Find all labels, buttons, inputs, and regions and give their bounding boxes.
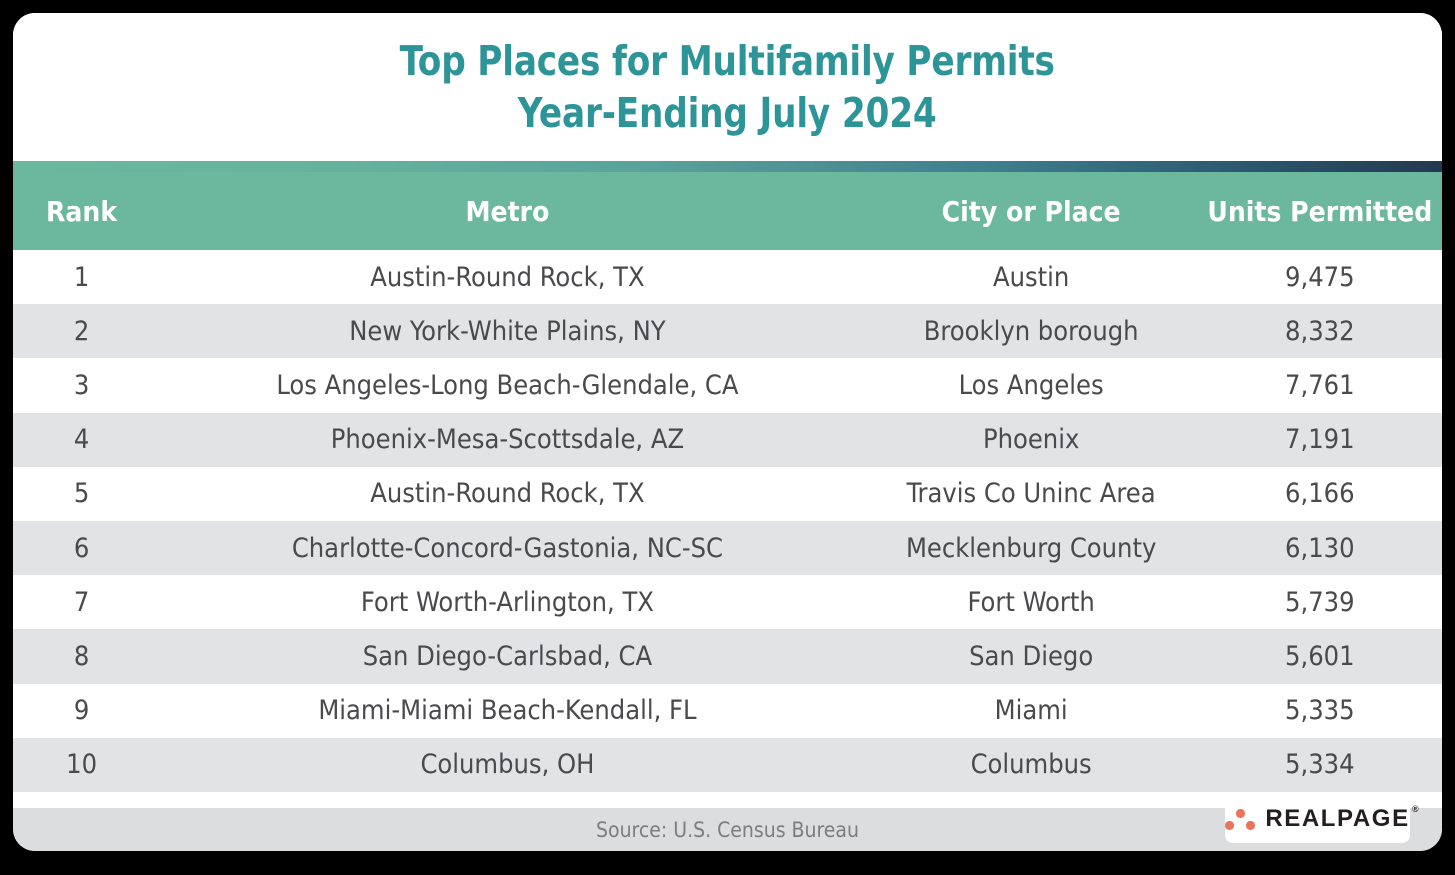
page-title-line-2: Year-Ending July 2024 — [518, 87, 937, 139]
registered-trademark-icon: ® — [1412, 805, 1419, 814]
report-card: Top Places for Multifamily Permits Year-… — [13, 13, 1442, 851]
table-row: 7 Fort Worth-Arlington, TX Fort Worth 5,… — [13, 575, 1442, 629]
table-body: 1 Austin-Round Rock, TX Austin 9,475 2 N… — [13, 250, 1442, 792]
cell-metro: New York-White Plains, NY — [150, 304, 865, 358]
cell-rank: 2 — [13, 304, 150, 358]
cell-city: Travis Co Uninc Area — [865, 467, 1198, 521]
permits-table: Rank Metro City or Place Units Permitted… — [13, 172, 1442, 792]
cell-metro: San Diego-Carlsbad, CA — [150, 629, 865, 683]
table-row: 5 Austin-Round Rock, TX Travis Co Uninc … — [13, 467, 1442, 521]
table-row: 9 Miami-Miami Beach-Kendall, FL Miami 5,… — [13, 684, 1442, 738]
cell-units: 6,166 — [1198, 467, 1442, 521]
column-header-rank[interactable]: Rank — [13, 172, 150, 250]
cell-metro: Charlotte-Concord-Gastonia, NC-SC — [150, 521, 865, 575]
page-title: Top Places for Multifamily Permits Year-… — [13, 13, 1442, 160]
table-row: 2 New York-White Plains, NY Brooklyn bor… — [13, 304, 1442, 358]
table-header: Rank Metro City or Place Units Permitted — [13, 172, 1442, 250]
realpage-logo[interactable]: REALPAGE ® — [1225, 795, 1410, 843]
realpage-wordmark: REALPAGE ® — [1265, 807, 1409, 831]
cell-city: Austin — [865, 250, 1198, 304]
cell-rank: 10 — [13, 738, 150, 792]
cell-city: Los Angeles — [865, 358, 1198, 412]
realpage-dots-icon — [1225, 807, 1256, 831]
cell-rank: 9 — [13, 684, 150, 738]
cell-rank: 1 — [13, 250, 150, 304]
logo-dot-bottom-right — [1246, 821, 1255, 830]
table-row: 3 Los Angeles-Long Beach-Glendale, CA Lo… — [13, 358, 1442, 412]
cell-rank: 5 — [13, 467, 150, 521]
cell-city: Fort Worth — [865, 575, 1198, 629]
realpage-wordmark-text: REALPAGE — [1265, 805, 1409, 832]
cell-units: 8,332 — [1198, 304, 1442, 358]
cell-city: Miami — [865, 684, 1198, 738]
cell-metro: Phoenix-Mesa-Scottsdale, AZ — [150, 413, 865, 467]
cell-city: San Diego — [865, 629, 1198, 683]
cell-rank: 6 — [13, 521, 150, 575]
cell-units: 7,761 — [1198, 358, 1442, 412]
cell-rank: 8 — [13, 629, 150, 683]
cell-metro: Columbus, OH — [150, 738, 865, 792]
cell-metro: Austin-Round Rock, TX — [150, 250, 865, 304]
table-row: 8 San Diego-Carlsbad, CA San Diego 5,601 — [13, 629, 1442, 683]
cell-metro: Los Angeles-Long Beach-Glendale, CA — [150, 358, 865, 412]
cell-metro: Austin-Round Rock, TX — [150, 467, 865, 521]
cell-units: 9,475 — [1198, 250, 1442, 304]
column-header-city[interactable]: City or Place — [865, 172, 1198, 250]
cell-rank: 4 — [13, 413, 150, 467]
screenshot-canvas: Top Places for Multifamily Permits Year-… — [0, 0, 1455, 875]
cell-metro: Fort Worth-Arlington, TX — [150, 575, 865, 629]
table-row: 10 Columbus, OH Columbus 5,334 — [13, 738, 1442, 792]
cell-rank: 3 — [13, 358, 150, 412]
cell-units: 6,130 — [1198, 521, 1442, 575]
table-row: 1 Austin-Round Rock, TX Austin 9,475 — [13, 250, 1442, 304]
cell-city: Brooklyn borough — [865, 304, 1198, 358]
page-title-line-1: Top Places for Multifamily Permits — [400, 35, 1055, 87]
cell-rank: 7 — [13, 575, 150, 629]
column-header-units[interactable]: Units Permitted — [1198, 172, 1442, 250]
cell-units: 5,601 — [1198, 629, 1442, 683]
cell-units: 5,334 — [1198, 738, 1442, 792]
cell-metro: Miami-Miami Beach-Kendall, FL — [150, 684, 865, 738]
cell-units: 7,191 — [1198, 413, 1442, 467]
table-row: 6 Charlotte-Concord-Gastonia, NC-SC Meck… — [13, 521, 1442, 575]
cell-city: Phoenix — [865, 413, 1198, 467]
cell-city: Mecklenburg County — [865, 521, 1198, 575]
cell-city: Columbus — [865, 738, 1198, 792]
column-header-metro[interactable]: Metro — [150, 172, 865, 250]
table-header-row: Rank Metro City or Place Units Permitted — [13, 172, 1442, 250]
table-row: 4 Phoenix-Mesa-Scottsdale, AZ Phoenix 7,… — [13, 413, 1442, 467]
logo-dot-top — [1236, 809, 1245, 818]
cell-units: 5,739 — [1198, 575, 1442, 629]
cell-units: 5,335 — [1198, 684, 1442, 738]
accent-gradient-divider — [13, 161, 1442, 172]
logo-dot-bottom-left — [1225, 821, 1234, 830]
